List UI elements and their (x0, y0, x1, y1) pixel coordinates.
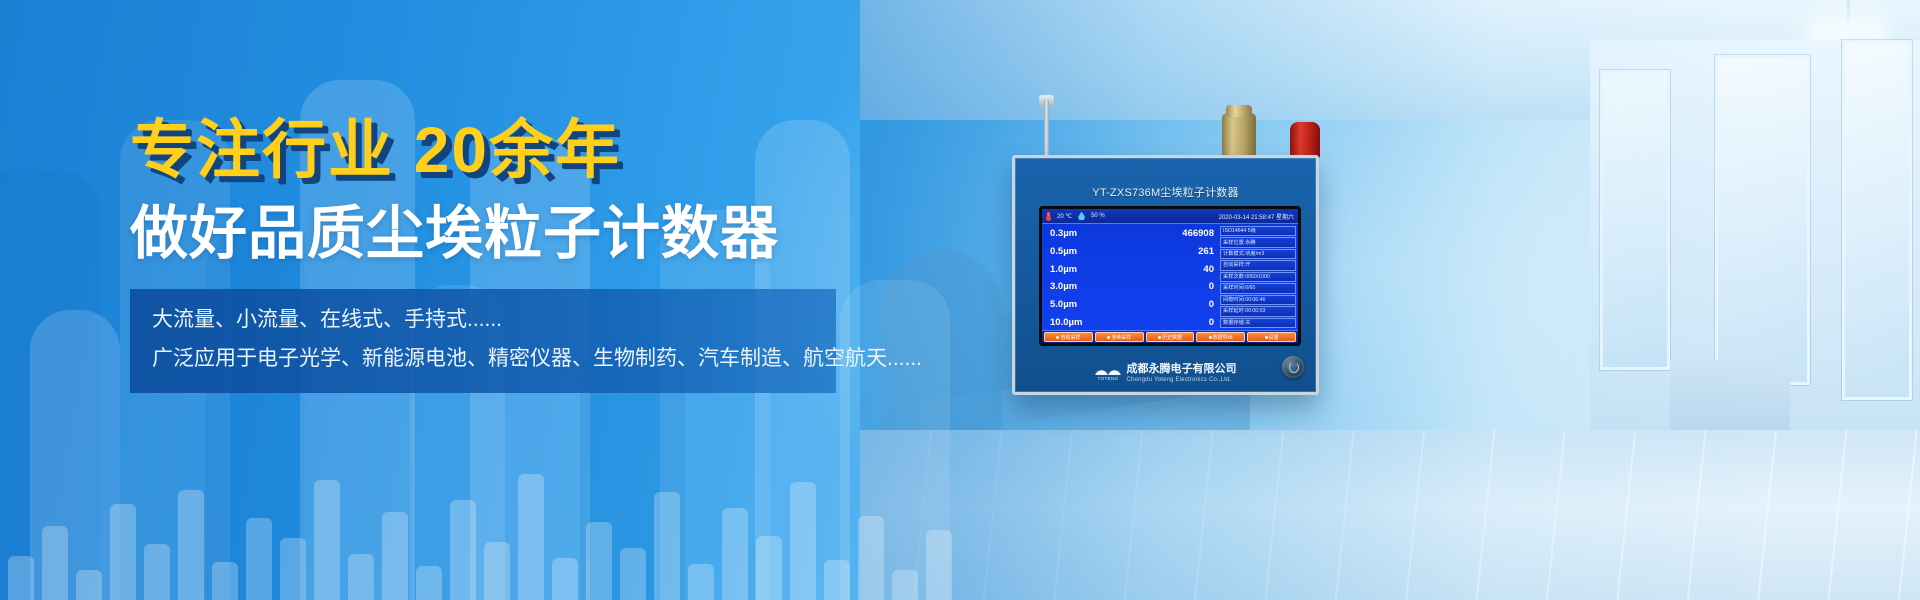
info-row: 采样位置:永腾 (1220, 237, 1296, 247)
company-name-cn: 成都永腾电子有限公司 (1127, 363, 1237, 377)
info-row: ISO14644 5级 (1220, 226, 1296, 236)
screen-body: 0.3µm 466908 0.5µm 261 1.0µm 40 3.0µm (1042, 224, 1298, 330)
temperature-value: 20 ℃ (1057, 213, 1072, 220)
red-beacon-icon (1290, 122, 1320, 158)
particle-count: 40 (1203, 264, 1214, 275)
yoteng-logo-icon: YOTENG (1095, 365, 1121, 381)
equalizer-strip (0, 450, 1920, 600)
particle-count: 466908 (1182, 228, 1214, 239)
button-label: 历史数据 (1162, 334, 1182, 341)
particle-size: 10.0µm (1050, 317, 1082, 328)
logo-mark (1095, 366, 1121, 375)
bullet-dot-icon (1107, 336, 1110, 339)
particle-row: 0.5µm 261 (1050, 246, 1214, 257)
particle-count: 0 (1209, 317, 1214, 328)
logo-text: YOTENG (1098, 376, 1118, 381)
brand-block: YOTENG 成都永腾电子有限公司 Chengdu Yoteng Electro… (1015, 363, 1316, 384)
particle-count: 0 (1209, 281, 1214, 292)
particle-size: 0.3µm (1050, 228, 1077, 239)
info-row: 采样次数:0050/1000 (1220, 272, 1296, 282)
device-model-label: YT-ZXS736M尘埃粒子计数器 (1015, 184, 1316, 200)
particle-size: 5.0µm (1050, 299, 1077, 310)
info-row: 计数模式:浓度/m3 (1220, 249, 1296, 259)
bullet-line-2: 广泛应用于电子光学、新能源电池、精密仪器、生物制药、汽车制造、航空航天.....… (152, 340, 814, 379)
datetime-value: 2020-03-14 21:58:47 星期六 (1219, 212, 1294, 221)
continuous-sample-button[interactable]: 连续采样 (1095, 332, 1144, 342)
button-label: 连续采样 (1111, 334, 1131, 341)
screen-button-bar: 自动采样 连续采样 历史数据 数据导出 (1042, 330, 1298, 343)
humidity-value: 50 % (1091, 213, 1105, 219)
settings-button[interactable]: 设置 (1247, 332, 1296, 342)
subheadline: 做好品质尘埃粒子计数器 (130, 204, 890, 265)
info-row: 采样时间:6/60 (1220, 283, 1296, 293)
power-knob[interactable] (1282, 356, 1304, 378)
particle-row: 3.0µm 0 (1050, 281, 1214, 292)
info-row: 间歇时间:00:06:46 (1220, 295, 1296, 305)
particle-count: 261 (1198, 246, 1214, 257)
gear-icon (1265, 336, 1268, 339)
screen-info-panel: ISO14644 5级 采样位置:永腾 计数模式:浓度/m3 自动采样:开 采样… (1220, 224, 1298, 330)
sampling-nozzle (1222, 113, 1256, 157)
screen-bezel: 20 ℃ 50 % 2020-03-14 21:58:47 星期六 0.3µm … (1039, 206, 1301, 346)
particle-size-list: 0.3µm 466908 0.5µm 261 1.0µm 40 3.0µm (1042, 224, 1220, 330)
particle-row: 5.0µm 0 (1050, 299, 1214, 310)
water-drop-icon (1078, 212, 1085, 221)
copy-block: 专注行业 20余年 做好品质尘埃粒子计数器 大流量、小流量、在线式、手持式...… (130, 118, 890, 393)
particle-size: 3.0µm (1050, 281, 1077, 292)
antenna (1044, 100, 1049, 158)
export-data-button[interactable]: 数据导出 (1196, 332, 1245, 342)
company-names: 成都永腾电子有限公司 Chengdu Yoteng Electronics Co… (1127, 363, 1237, 384)
bullet-dot-icon (1056, 336, 1059, 339)
info-row: 数据存储:关 (1220, 318, 1296, 328)
particle-row: 0.3µm 466908 (1050, 228, 1214, 239)
thermometer-icon (1046, 212, 1051, 221)
particle-size: 1.0µm (1050, 264, 1077, 275)
button-label: 设置 (1269, 334, 1279, 341)
screen-status-bar: 20 ℃ 50 % 2020-03-14 21:58:47 星期六 (1042, 209, 1298, 224)
company-name-en: Chengdu Yoteng Electronics Co.,Ltd. (1127, 377, 1237, 385)
particle-size: 0.5µm (1050, 246, 1077, 257)
history-data-button[interactable]: 历史数据 (1146, 332, 1195, 342)
info-row: 自动采样:开 (1220, 260, 1296, 270)
auto-sample-button[interactable]: 自动采样 (1044, 332, 1093, 342)
bullet-line-1: 大流量、小流量、在线式、手持式...... (152, 301, 814, 340)
particle-counter-device: YT-ZXS736M尘埃粒子计数器 20 ℃ 50 % 2020-03-14 2… (1012, 155, 1319, 395)
particle-row: 1.0µm 40 (1050, 264, 1214, 275)
promo-banner: 专注行业 20余年 做好品质尘埃粒子计数器 大流量、小流量、在线式、手持式...… (0, 0, 1920, 600)
particle-count: 0 (1209, 299, 1214, 310)
bullet-band: 大流量、小流量、在线式、手持式...... 广泛应用于电子光学、新能源电池、精密… (130, 289, 836, 393)
button-label: 数据导出 (1213, 334, 1233, 341)
info-row: 采样延时:00:00:03 (1220, 306, 1296, 316)
button-label: 自动采样 (1060, 334, 1080, 341)
particle-row: 10.0µm 0 (1050, 317, 1214, 328)
bullet-dot-icon (1158, 336, 1161, 339)
bullet-dot-icon (1209, 336, 1212, 339)
device-screen[interactable]: 20 ℃ 50 % 2020-03-14 21:58:47 星期六 0.3µm … (1042, 209, 1298, 343)
headline: 专注行业 20余年 (130, 118, 890, 182)
